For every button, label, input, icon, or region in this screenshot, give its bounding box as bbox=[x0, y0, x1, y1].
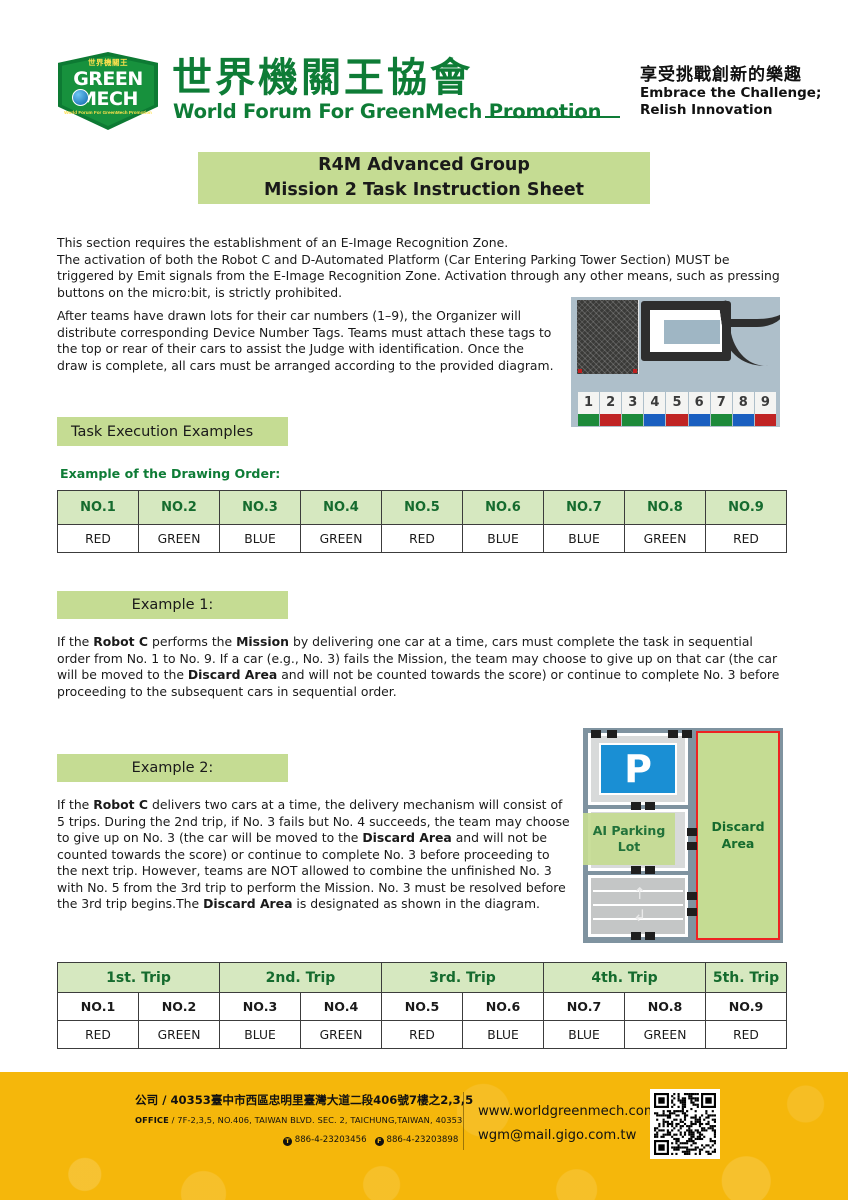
drawing-table-header-cell: NO.4 bbox=[301, 491, 382, 525]
drawing-table-header-cell: NO.7 bbox=[544, 491, 625, 525]
photo-car bbox=[711, 414, 732, 426]
drawing-table-cell: BLUE bbox=[544, 525, 625, 553]
photo-number-card: 1 bbox=[578, 392, 599, 414]
footer-vertical-divider bbox=[463, 1092, 464, 1150]
road-arrow-up-icon: ↑ bbox=[633, 886, 646, 902]
footer-fax: 886-4-23203898 bbox=[387, 1135, 459, 1145]
photo-car bbox=[600, 414, 621, 426]
qr-code bbox=[650, 1089, 720, 1159]
trips-table-number-cell: NO.7 bbox=[544, 993, 625, 1021]
diagram-block-3 bbox=[668, 730, 678, 738]
slogan-english-line1: Embrace the Challenge; bbox=[640, 85, 821, 102]
logo-ball-icon bbox=[72, 89, 89, 106]
ex1-bold3: Discard Area bbox=[188, 667, 277, 682]
diagram-block-6 bbox=[645, 802, 655, 810]
photo-marker-right bbox=[633, 369, 637, 373]
drawing-table-cell: GREEN bbox=[139, 525, 220, 553]
ex2-part1: If the bbox=[57, 797, 93, 812]
section-header-task-execution: Task Execution Examples bbox=[57, 417, 288, 446]
drawing-table-header-cell: NO.5 bbox=[382, 491, 463, 525]
photo-number-cards: 123456789 bbox=[578, 392, 776, 414]
section-header-example-1-label: Example 1: bbox=[132, 597, 214, 613]
photo-track-curve-2 bbox=[729, 297, 780, 327]
car-arrangement-photo: 123456789 bbox=[571, 297, 780, 427]
drawing-table-cell: BLUE bbox=[220, 525, 301, 553]
road-arrow-turn-icon: ↲ bbox=[633, 908, 646, 924]
diagram-block-9 bbox=[631, 932, 641, 940]
photo-car bbox=[622, 414, 643, 426]
trips-table-header-cell: 3rd. Trip bbox=[382, 963, 544, 993]
trips-table-color-cell: GREEN bbox=[139, 1021, 220, 1049]
drawing-order-table: NO.1NO.2NO.3NO.4NO.5NO.6NO.7NO.8NO.9 RED… bbox=[57, 490, 787, 553]
trips-table-number-cell: NO.6 bbox=[463, 993, 544, 1021]
footer-telephone: 886-4-23203456 bbox=[295, 1135, 367, 1145]
section-header-example-1: Example 1: bbox=[57, 591, 288, 619]
telephone-icon: T bbox=[283, 1137, 292, 1146]
drawing-table-cell: BLUE bbox=[463, 525, 544, 553]
trips-table-number-cell: NO.4 bbox=[301, 993, 382, 1021]
trips-table-number-cell: NO.2 bbox=[139, 993, 220, 1021]
diagram-parking-tower-block: P bbox=[588, 733, 688, 805]
table-header-row: NO.1NO.2NO.3NO.4NO.5NO.6NO.7NO.8NO.9 bbox=[58, 491, 787, 525]
example-2-paragraph: If the Robot C delivers two cars at a ti… bbox=[57, 797, 572, 913]
trips-table-color-cell: RED bbox=[706, 1021, 787, 1049]
trips-table-color-cell: GREEN bbox=[625, 1021, 706, 1049]
trips-table-color-cell: BLUE bbox=[220, 1021, 301, 1049]
diagram-block-4 bbox=[682, 730, 692, 738]
ex2-part4: is designated as shown in the diagram. bbox=[292, 896, 540, 911]
footer-contact-numbers: T 886-4-23203456 F 886-4-23203898 bbox=[283, 1135, 458, 1146]
document-title-banner: R4M Advanced Group Mission 2 Task Instru… bbox=[198, 152, 650, 204]
photo-number-card: 3 bbox=[622, 392, 643, 414]
ex2-bold2: Discard Area bbox=[362, 830, 451, 845]
drawing-table-cell: RED bbox=[382, 525, 463, 553]
drawing-table-header-cell: NO.9 bbox=[706, 491, 787, 525]
trips-table-number-cell: NO.5 bbox=[382, 993, 463, 1021]
drawing-table-cell: GREEN bbox=[625, 525, 706, 553]
diagram-block-14 bbox=[687, 908, 697, 916]
footer-address-chinese: 公司 / 40353臺中市西區忠明里臺灣大道二段406號7樓之2,3,5 bbox=[135, 1092, 473, 1108]
discard-area-label: Discard Area bbox=[696, 731, 780, 940]
drawing-table-header-cell: NO.6 bbox=[463, 491, 544, 525]
diagram-block-11 bbox=[687, 828, 697, 836]
fax-icon: F bbox=[375, 1137, 384, 1146]
trips-header-row: 1st. Trip2nd. Trip3rd. Trip4th. Trip5th.… bbox=[58, 963, 787, 993]
drawing-table-header-cell: NO.3 bbox=[220, 491, 301, 525]
intro-line-1: This section requires the establishment … bbox=[57, 235, 508, 250]
drawing-table-header-cell: NO.2 bbox=[139, 491, 220, 525]
footer-website[interactable]: www.worldgreenmech.com bbox=[478, 1104, 657, 1119]
diagram-block-1 bbox=[591, 730, 601, 738]
trips-table-header-cell: 4th. Trip bbox=[544, 963, 706, 993]
diagram-left-column: P ↑ ↲ AI Parking Lot bbox=[588, 733, 694, 938]
photo-marker-left bbox=[578, 369, 582, 373]
document-title-line2: Mission 2 Task Instruction Sheet bbox=[264, 178, 584, 203]
trips-table-header-cell: 2nd. Trip bbox=[220, 963, 382, 993]
ex1-part1: If the bbox=[57, 634, 93, 649]
trips-table-color-cell: RED bbox=[382, 1021, 463, 1049]
diagram-block-10 bbox=[645, 932, 655, 940]
discard-area-diagram: P ↑ ↲ AI Parking Lot Discard Area bbox=[583, 728, 783, 943]
logo-chinese-text: 世界機關王 bbox=[58, 57, 158, 68]
drawing-table-header-cell: NO.1 bbox=[58, 491, 139, 525]
qr-code-svg bbox=[654, 1093, 716, 1155]
photo-number-card: 9 bbox=[755, 392, 776, 414]
ex2-bold3: Discard Area bbox=[203, 896, 292, 911]
trips-table-color-cell: BLUE bbox=[463, 1021, 544, 1049]
ex1-part2: performs the bbox=[148, 634, 236, 649]
photo-number-card: 7 bbox=[711, 392, 732, 414]
trips-table-color-cell: BLUE bbox=[544, 1021, 625, 1049]
footer-address-en-text: / 7F-2,3,5, NO.406, TAIWAN BLVD. SEC. 2,… bbox=[169, 1115, 463, 1125]
photo-track-inner bbox=[664, 320, 720, 344]
trips-table-number-cell: NO.3 bbox=[220, 993, 301, 1021]
photo-car bbox=[644, 414, 665, 426]
slogan-english-line2: Relish Innovation bbox=[640, 102, 821, 119]
photo-car-row bbox=[578, 414, 776, 426]
photo-car bbox=[755, 414, 776, 426]
trips-table-header-cell: 5th. Trip bbox=[706, 963, 787, 993]
photo-number-card: 4 bbox=[644, 392, 665, 414]
diagram-road-block: ↑ ↲ bbox=[588, 875, 688, 937]
ai-parking-lot-label: AI Parking Lot bbox=[583, 813, 675, 865]
trips-table: 1st. Trip2nd. Trip3rd. Trip4th. Trip5th.… bbox=[57, 962, 787, 1049]
slogan-english: Embrace the Challenge; Relish Innovation bbox=[640, 85, 821, 119]
photo-gravel-area bbox=[577, 300, 639, 374]
drawing-order-label: Example of the Drawing Order: bbox=[60, 466, 280, 481]
ex1-bold2: Mission bbox=[236, 634, 289, 649]
photo-number-card: 5 bbox=[666, 392, 687, 414]
trips-table-number-cell: NO.1 bbox=[58, 993, 139, 1021]
trips-table-number-cell: NO.9 bbox=[706, 993, 787, 1021]
drawing-table-cell: RED bbox=[58, 525, 139, 553]
org-title-chinese: 世界機關王協會 bbox=[172, 58, 473, 98]
trips-table-number-cell: NO.8 bbox=[625, 993, 706, 1021]
document-title-line1: R4M Advanced Group bbox=[318, 153, 530, 178]
header-divider-line bbox=[485, 116, 620, 118]
section-header-task-execution-label: Task Execution Examples bbox=[71, 424, 253, 440]
photo-car bbox=[733, 414, 754, 426]
greenmech-logo: 世界機關王 GREEN MECH World Forum For GreenMe… bbox=[58, 52, 158, 130]
ex2-bold1: Robot C bbox=[93, 797, 148, 812]
diagram-block-2 bbox=[607, 730, 617, 738]
photo-car bbox=[666, 414, 687, 426]
intro-paragraph-1: This section requires the establishment … bbox=[57, 235, 787, 301]
trips-color-row: REDGREENBLUEGREENREDBLUEBLUEGREENRED bbox=[58, 1021, 787, 1049]
logo-green-text: GREEN bbox=[58, 68, 158, 90]
trips-table-color-cell: RED bbox=[58, 1021, 139, 1049]
org-title-english: World Forum For GreenMech Promotion bbox=[173, 100, 601, 123]
photo-number-card: 2 bbox=[600, 392, 621, 414]
footer-email[interactable]: wgm@mail.gigo.com.tw bbox=[478, 1128, 636, 1143]
ex1-bold1: Robot C bbox=[93, 634, 148, 649]
drawing-table-cell: RED bbox=[706, 525, 787, 553]
section-header-example-2-label: Example 2: bbox=[132, 760, 214, 776]
footer-office-label: OFFICE bbox=[135, 1115, 169, 1125]
photo-car bbox=[578, 414, 599, 426]
drawing-table-cell: GREEN bbox=[301, 525, 382, 553]
photo-number-card: 8 bbox=[733, 392, 754, 414]
diagram-block-7 bbox=[631, 866, 641, 874]
trips-table-header-cell: 1st. Trip bbox=[58, 963, 220, 993]
photo-track-rectangle bbox=[641, 301, 731, 361]
footer-address-english: OFFICE / 7F-2,3,5, NO.406, TAIWAN BLVD. … bbox=[135, 1115, 462, 1125]
intro-paragraph-2: After teams have drawn lots for their ca… bbox=[57, 308, 557, 374]
trips-number-row: NO.1NO.2NO.3NO.4NO.5NO.6NO.7NO.8NO.9 bbox=[58, 993, 787, 1021]
photo-number-card: 6 bbox=[689, 392, 710, 414]
diagram-block-5 bbox=[631, 802, 641, 810]
example-1-paragraph: If the Robot C performs the Mission by d… bbox=[57, 634, 787, 700]
table-row: REDGREENBLUEGREENREDBLUEBLUEGREENRED bbox=[58, 525, 787, 553]
diagram-block-8 bbox=[645, 866, 655, 874]
photo-car bbox=[689, 414, 710, 426]
trips-table-color-cell: GREEN bbox=[301, 1021, 382, 1049]
slogan-chinese: 享受挑戰創新的樂趣 bbox=[640, 60, 802, 85]
intro-rest: The activation of both the Robot C and D… bbox=[57, 252, 780, 300]
drawing-table-header-cell: NO.8 bbox=[625, 491, 706, 525]
page-header: 世界機關王 GREEN MECH World Forum For GreenMe… bbox=[0, 0, 848, 140]
logo-footer-text: World Forum For GreenMech Promotion bbox=[58, 110, 158, 115]
parking-sign-icon: P bbox=[599, 743, 677, 795]
diagram-block-13 bbox=[687, 892, 697, 900]
diagram-block-12 bbox=[687, 842, 697, 850]
section-header-example-2: Example 2: bbox=[57, 754, 288, 782]
